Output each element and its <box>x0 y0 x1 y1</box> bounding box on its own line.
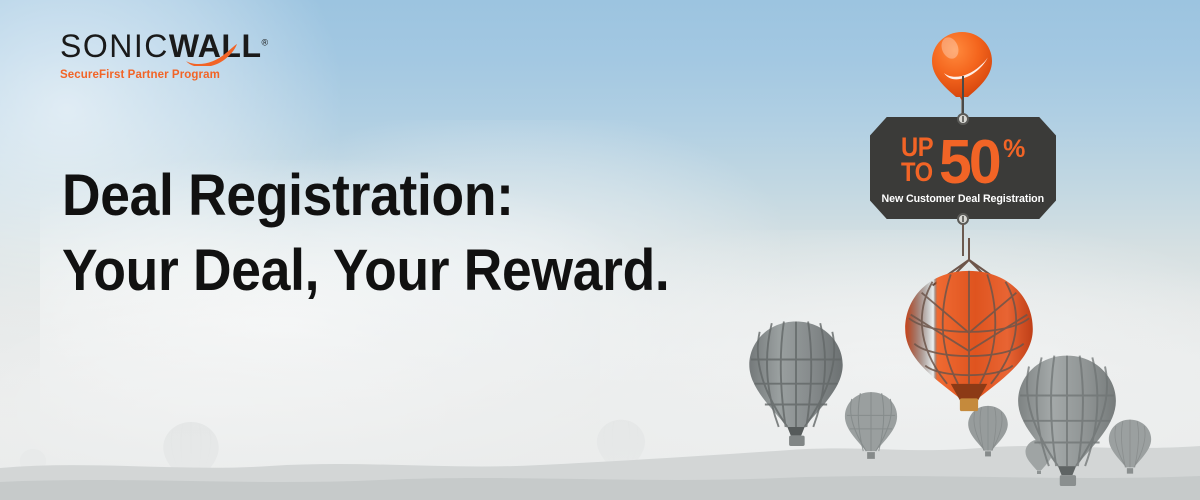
deal-registration-banner: UP TO 50 % New Customer Deal Registratio… <box>0 0 1200 500</box>
promo-badge-percent-symbol: % <box>1003 137 1025 162</box>
page-title: Deal Registration: Your Deal, Your Rewar… <box>62 158 669 309</box>
partner-program-tagline: SecureFirst Partner Program <box>60 69 300 81</box>
headline-line-1: Deal Registration: <box>62 158 669 233</box>
promo-badge-upto: UP TO <box>901 135 933 185</box>
promo-badge-group: UP TO 50 % New Customer Deal Registratio… <box>858 14 1068 414</box>
promo-badge-amount-row: UP TO 50 % <box>901 135 1026 189</box>
promo-badge-subtitle: New Customer Deal Registration <box>882 193 1045 205</box>
promo-badge-to-label: TO <box>901 160 933 185</box>
grey-balloon-large-left <box>744 318 848 446</box>
badge-string-bottom <box>962 224 964 256</box>
promo-badge-text: UP TO 50 % New Customer Deal Registratio… <box>870 110 1056 226</box>
badge-string-top <box>962 76 964 114</box>
logo-sonic-text: SONIC <box>60 28 169 64</box>
promo-badge-amount: 50 <box>939 138 999 189</box>
sonicwall-wordmark: SONICWALL® <box>60 30 300 62</box>
logo-registered-mark: ® <box>261 37 268 47</box>
sonicwall-logo[interactable]: SONICWALL® SecureFirst Partner Program <box>60 30 300 81</box>
headline-line-2: Your Deal, Your Reward. <box>62 233 669 308</box>
logo-wall-text: WALL <box>169 28 262 64</box>
